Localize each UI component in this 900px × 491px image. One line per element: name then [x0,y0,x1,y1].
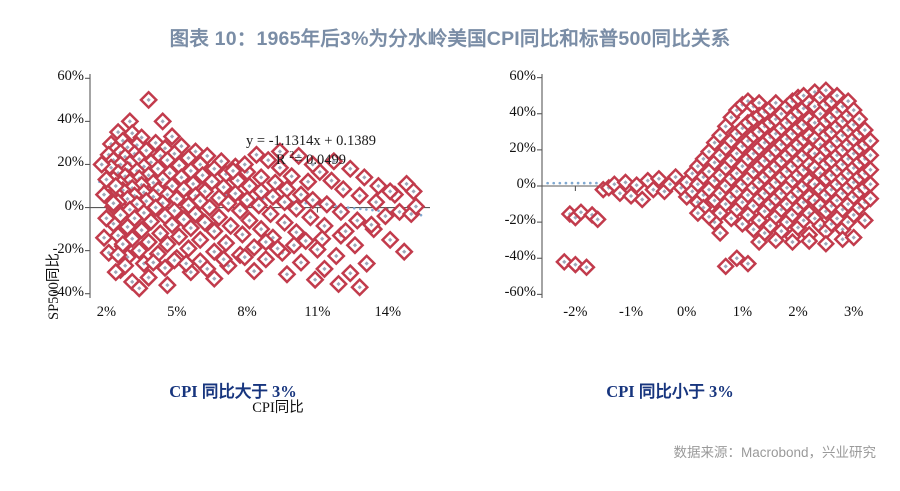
r-squared-left: R 2= 0.0499 [186,150,436,169]
x-tick-label: 8% [221,304,273,321]
y-tick-label: -40% [32,284,84,301]
y-tick-label: 40% [32,111,84,128]
y-tick-label: -20% [32,241,84,258]
chart-page: 图表 10：1965年后3%为分水岭美国CPI同比和标普500同比关系 SP50… [0,0,900,491]
x-tick-label: 2% [80,304,132,321]
caption-left: CPI 同比大于 3% [18,378,448,402]
caption-right: CPI 同比小于 3% [450,378,890,402]
x-tick-label: 3% [828,304,880,321]
x-tick-label: 5% [151,304,203,321]
panel-left: SP500同比 CPI同比 y = -1.1314x + 0.1389 R 2=… [18,60,448,390]
y-tick-label: -40% [484,248,536,265]
y-tick-label: -20% [484,212,536,229]
x-tick-label: 0% [661,304,713,321]
y-tick-label: 40% [484,104,536,121]
x-tick-label: 1% [716,304,768,321]
equation-left: y = -1.1314x + 0.1389 R 2= 0.0499 [186,132,436,169]
page-title: 图表 10：1965年后3%为分水岭美国CPI同比和标普500同比关系 [0,22,900,51]
y-tick-label: 20% [32,154,84,171]
y-tick-label: 0% [484,176,536,193]
x-tick-label: -1% [605,304,657,321]
y-tick-label: 60% [32,68,84,85]
y-tick-label: -60% [484,284,536,301]
x-tick-label: 2% [772,304,824,321]
y-tick-label: 0% [32,198,84,215]
equation-line-left: y = -1.1314x + 0.1389 [186,132,436,150]
x-tick-label: 11% [291,304,343,321]
x-tick-label: 14% [362,304,414,321]
y-tick-label: 20% [484,140,536,157]
y-tick-label: 60% [484,68,536,85]
x-tick-label: -2% [549,304,601,321]
source-note: 数据来源：Macrobond，兴业研究 [673,441,876,461]
